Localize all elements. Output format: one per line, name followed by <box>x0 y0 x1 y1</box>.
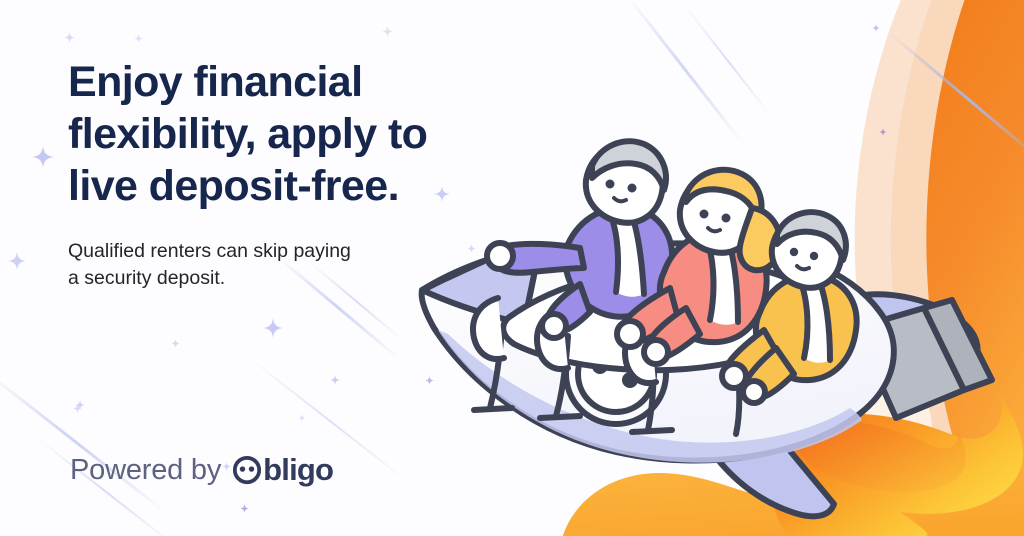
sparkle-star <box>32 146 54 168</box>
page-headline: Enjoy financial flexibility, apply to li… <box>68 56 508 212</box>
sparkle-star <box>872 24 880 32</box>
powered-by-obligo-logo: Powered by bligo <box>70 452 333 488</box>
sparkle-star <box>171 339 180 348</box>
sparkle-star <box>64 32 75 43</box>
light-streak <box>0 370 167 514</box>
sparkle-star <box>134 34 143 43</box>
page-subheadline: Qualified renters can skip paying a secu… <box>68 238 508 292</box>
sparkle-star <box>75 400 85 410</box>
obligo-outlet-icon <box>232 455 262 485</box>
sparkle-star <box>240 504 249 513</box>
obligo-brand-text: bligo <box>263 452 333 488</box>
sparkle-star <box>73 404 82 413</box>
marketing-banner: Enjoy financial flexibility, apply to li… <box>0 0 1024 536</box>
sparkle-star <box>330 375 340 385</box>
powered-by-label: Powered by <box>70 454 221 487</box>
sparkle-star <box>382 26 393 37</box>
sparkle-star <box>298 414 306 422</box>
light-streak <box>684 5 772 117</box>
sparkle-star <box>8 252 26 270</box>
text-block: Enjoy financial flexibility, apply to li… <box>68 56 508 292</box>
sparkle-star <box>263 318 283 338</box>
obligo-wordmark: bligo <box>232 452 333 488</box>
